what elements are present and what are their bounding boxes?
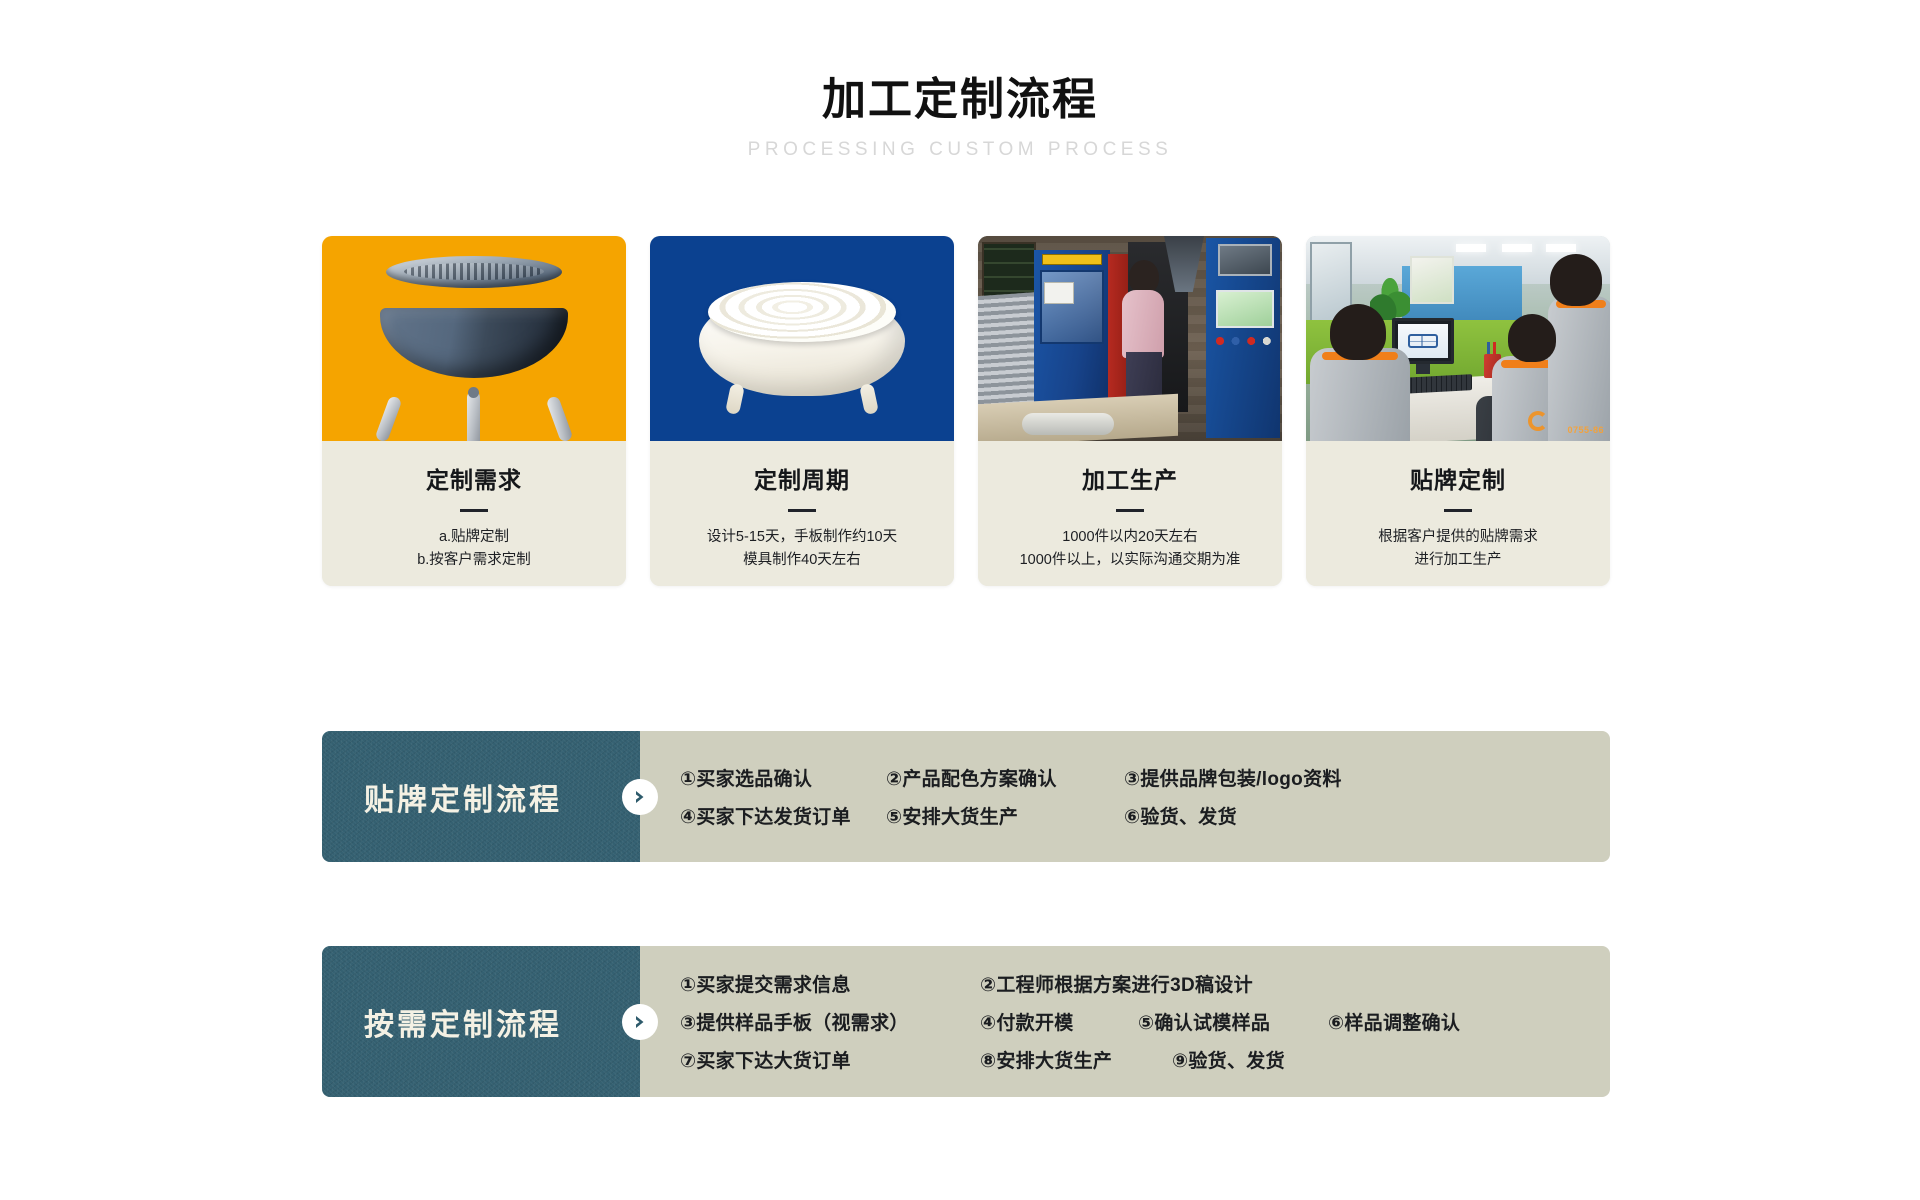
factory-worker-head-shape	[1129, 260, 1159, 294]
process-bar-oem: 贴牌定制流程 ①买家选品确认 ②产品配色方案确认 ③提供品牌包装/logo资料 …	[322, 731, 1610, 862]
watermark-text: 0755-86	[1567, 425, 1604, 435]
grill-bowl-shape	[380, 308, 568, 378]
prototype-top-shape	[708, 282, 896, 342]
card-description-line: 1000件以上，以实际沟通交期为准	[992, 549, 1268, 572]
factory-worker-shirt-shape	[1122, 290, 1164, 358]
card-body: 定制周期 设计5-15天，手板制作约10天 模具制作40天左右	[650, 441, 954, 586]
card-description-line: 进行加工生产	[1320, 549, 1596, 572]
process-step: ①买家选品确认	[680, 764, 886, 791]
feature-card-list: 定制需求 a.贴牌定制 b.按客户需求定制 定制周期 设计5-15天，手板	[322, 236, 1610, 586]
chevron-right-icon[interactable]	[622, 779, 658, 815]
card-title: 定制周期	[664, 461, 940, 495]
process-bar-title: 按需定制流程	[364, 1000, 598, 1044]
process-step: ③提供品牌包装/logo资料	[1124, 764, 1342, 791]
factory-panel-buttons-shape	[1214, 334, 1274, 348]
feature-card[interactable]: 定制周期 设计5-15天，手板制作约10天 模具制作40天左右	[650, 236, 954, 586]
card-title: 贴牌定制	[1320, 461, 1596, 495]
office-person-head-shape	[1508, 314, 1556, 362]
process-step: ⑨验货、发货	[1172, 1046, 1285, 1073]
prototype-leg-right-shape	[859, 383, 879, 415]
process-step-list: ①买家提交需求信息 ②工程师根据方案进行3D稿设计 ③提供样品手板（视需求） ④…	[640, 946, 1610, 1097]
office-ceiling-light	[1502, 244, 1532, 252]
process-step-row: ①买家提交需求信息 ②工程师根据方案进行3D稿设计	[680, 965, 1610, 1003]
ring-logo-icon	[1528, 411, 1548, 431]
process-step-row: ①买家选品确认 ②产品配色方案确认 ③提供品牌包装/logo资料	[680, 759, 1610, 797]
office-ceiling-light	[1546, 244, 1576, 252]
process-step: ①买家提交需求信息	[680, 970, 980, 997]
process-bar-label-panel: 按需定制流程	[322, 946, 640, 1097]
process-step: ⑤确认试模样品	[1138, 1008, 1328, 1035]
process-step-list: ①买家选品确认 ②产品配色方案确认 ③提供品牌包装/logo资料 ④买家下达发货…	[640, 731, 1610, 862]
factory-yellow-label-shape	[1042, 254, 1102, 265]
office-poster-shape	[1410, 256, 1454, 304]
process-bar-title: 贴牌定制流程	[364, 775, 598, 819]
feature-card[interactable]: 0755-86 贴牌定制 根据客户提供的贴牌需求 进行加工生产	[1306, 236, 1610, 586]
page-title: 加工定制流程	[0, 72, 1920, 127]
feature-card[interactable]: 定制需求 a.贴牌定制 b.按客户需求定制	[322, 236, 626, 586]
factory-molded-part-shape	[1022, 413, 1114, 435]
card-description-line: 1000件以内20天左右	[992, 526, 1268, 549]
grill-leg-center-shape	[467, 391, 480, 441]
grill-leg-left-shape	[375, 395, 403, 441]
card-description: 设计5-15天，手板制作约10天 模具制作40天左右	[664, 526, 940, 573]
office-person-shape	[1310, 348, 1410, 441]
card-divider	[460, 509, 488, 512]
factory-screen-upper-shape	[1218, 244, 1272, 276]
office-monitor-stand-shape	[1416, 364, 1430, 374]
process-step: ④买家下达发货订单	[680, 802, 886, 829]
process-step: ③提供样品手板（视需求）	[680, 1008, 980, 1035]
process-step-row: ⑦买家下达大货订单 ⑧安排大货生产 ⑨验货、发货	[680, 1041, 1610, 1079]
card-description-line: a.贴牌定制	[336, 526, 612, 549]
card-description-line: 设计5-15天，手板制作约10天	[664, 526, 940, 549]
factory-screen-lower-shape	[1216, 290, 1274, 328]
office-person-head-shape	[1550, 254, 1602, 306]
process-bar-label-panel: 贴牌定制流程	[322, 731, 640, 862]
process-step: ⑧安排大货生产	[980, 1046, 1172, 1073]
card-title: 定制需求	[336, 461, 612, 495]
card-image-factory	[978, 236, 1282, 441]
page-root: 加工定制流程 PROCESSING CUSTOM PROCESS 定制需求 a.…	[0, 0, 1920, 1200]
process-step: ④付款开模	[980, 1008, 1138, 1035]
office-person-head-shape	[1330, 304, 1386, 360]
card-description: a.贴牌定制 b.按客户需求定制	[336, 526, 612, 573]
process-bar-custom: 按需定制流程 ①买家提交需求信息 ②工程师根据方案进行3D稿设计 ③提供样品手板…	[322, 946, 1610, 1097]
office-cad-drawing-shape	[1398, 324, 1448, 358]
prototype-leg-left-shape	[725, 383, 745, 415]
card-description: 1000件以内20天左右 1000件以上，以实际沟通交期为准	[992, 526, 1268, 573]
card-description-line: b.按客户需求定制	[336, 549, 612, 572]
process-step: ⑥样品调整确认	[1328, 1008, 1460, 1035]
card-body: 定制需求 a.贴牌定制 b.按客户需求定制	[322, 441, 626, 586]
process-step-row: ③提供样品手板（视需求） ④付款开模 ⑤确认试模样品 ⑥样品调整确认	[680, 1003, 1610, 1041]
process-step: ⑥验货、发货	[1124, 802, 1237, 829]
card-body: 贴牌定制 根据客户提供的贴牌需求 进行加工生产	[1306, 441, 1610, 586]
factory-product-stack-shape	[978, 292, 1040, 416]
process-step: ⑤安排大货生产	[886, 802, 1124, 829]
card-body: 加工生产 1000件以内20天左右 1000件以上，以实际沟通交期为准	[978, 441, 1282, 586]
card-image-prototype	[650, 236, 954, 441]
card-image-bbq-grill	[322, 236, 626, 441]
process-step: ⑦买家下达大货订单	[680, 1046, 980, 1073]
card-divider	[788, 509, 816, 512]
factory-warning-sign-shape	[1044, 282, 1074, 304]
process-step-row: ④买家下达发货订单 ⑤安排大货生产 ⑥验货、发货	[680, 797, 1610, 835]
page-header: 加工定制流程 PROCESSING CUSTOM PROCESS	[0, 72, 1920, 161]
card-title: 加工生产	[992, 461, 1268, 495]
card-description-line: 根据客户提供的贴牌需求	[1320, 526, 1596, 549]
grill-leg-right-shape	[546, 395, 574, 441]
card-description-line: 模具制作40天左右	[664, 549, 940, 572]
process-step: ②工程师根据方案进行3D稿设计	[980, 970, 1253, 997]
card-divider	[1116, 509, 1144, 512]
chevron-right-icon[interactable]	[622, 1004, 658, 1040]
card-divider	[1444, 509, 1472, 512]
card-description: 根据客户提供的贴牌需求 进行加工生产	[1320, 526, 1596, 573]
office-ceiling-light	[1456, 244, 1486, 252]
office-person-shape	[1548, 296, 1610, 441]
process-step: ②产品配色方案确认	[886, 764, 1124, 791]
grill-lid-shape	[386, 256, 562, 288]
page-subtitle: PROCESSING CUSTOM PROCESS	[0, 139, 1920, 161]
feature-card[interactable]: 加工生产 1000件以内20天左右 1000件以上，以实际沟通交期为准	[978, 236, 1282, 586]
card-image-office: 0755-86	[1306, 236, 1610, 441]
